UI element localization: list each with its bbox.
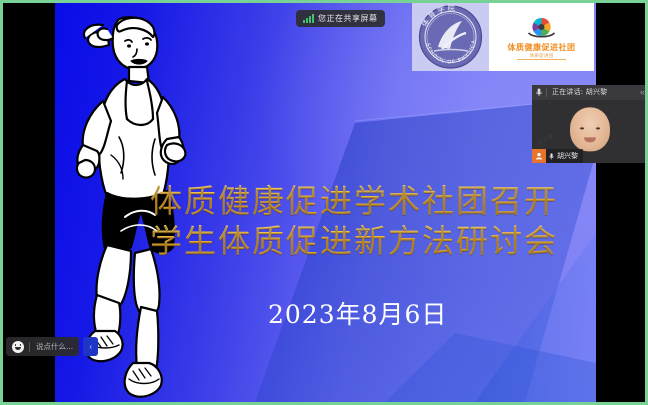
slide-title-line-2: 学生体质促进新方法研讨会: [150, 221, 590, 261]
participant-video-panel[interactable]: 正在讲话: 胡兴黎 « 胡兴黎: [532, 85, 648, 163]
avatar: [570, 107, 610, 151]
emoji-smiley-icon[interactable]: [12, 341, 24, 353]
chevron-left-icon[interactable]: ‹: [83, 337, 98, 356]
participant-name: 胡兴黎: [557, 151, 578, 161]
participant-avatar-icon: [532, 149, 546, 163]
signal-bars-icon: [303, 14, 314, 23]
fitness-health-club-logo: 体质健康促进社团 体质促进团: [489, 3, 594, 71]
club-title: 体质健康促进社团: [489, 42, 594, 53]
school-of-physical-education-seal: 体 育 学 院 SCHOOL OF PHYSICAL EDUCATION: [412, 3, 489, 71]
video-panel-header: 正在讲话: 胡兴黎 «: [532, 85, 648, 100]
presentation-slide: 体质健康促进学术社团召开 学生体质促进新方法研讨会 2023年8月6日 体 育 …: [55, 3, 596, 402]
slide-date: 2023年8月6日: [268, 299, 447, 331]
slide-title-block: 体质健康促进学术社团召开 学生体质促进新方法研讨会: [150, 181, 590, 261]
club-divider: [517, 59, 566, 60]
club-emblem-icon: [489, 7, 594, 47]
participant-name-bar: 胡兴黎: [532, 149, 583, 163]
screen-sharing-indicator: 您正在共享屏幕: [296, 10, 385, 27]
chat-input[interactable]: 说点什么...: [29, 342, 73, 352]
seal-graphic: 体 育 学 院 SCHOOL OF PHYSICAL EDUCATION: [412, 3, 489, 71]
chat-input-wrapper[interactable]: 说点什么...: [6, 337, 79, 356]
video-feed[interactable]: 胡兴黎 胡兴: [532, 100, 648, 163]
participant-name-row: 胡兴黎: [546, 149, 583, 163]
microphone-icon: [532, 88, 546, 97]
microphone-icon: [549, 153, 554, 160]
shared-screen-stage: 体质健康促进学术社团召开 学生体质促进新方法研讨会 2023年8月6日 体 育 …: [0, 0, 648, 405]
sharing-indicator-label: 您正在共享屏幕: [318, 13, 378, 24]
chevron-collapse-icon[interactable]: «: [640, 87, 645, 98]
chat-bar[interactable]: 说点什么... ‹: [6, 337, 98, 356]
slide-title-line-1: 体质健康促进学术社团召开: [150, 181, 590, 221]
club-subtitle: 体质促进团: [489, 53, 594, 59]
speaking-status-label: 正在讲话: 胡兴黎: [546, 88, 607, 97]
